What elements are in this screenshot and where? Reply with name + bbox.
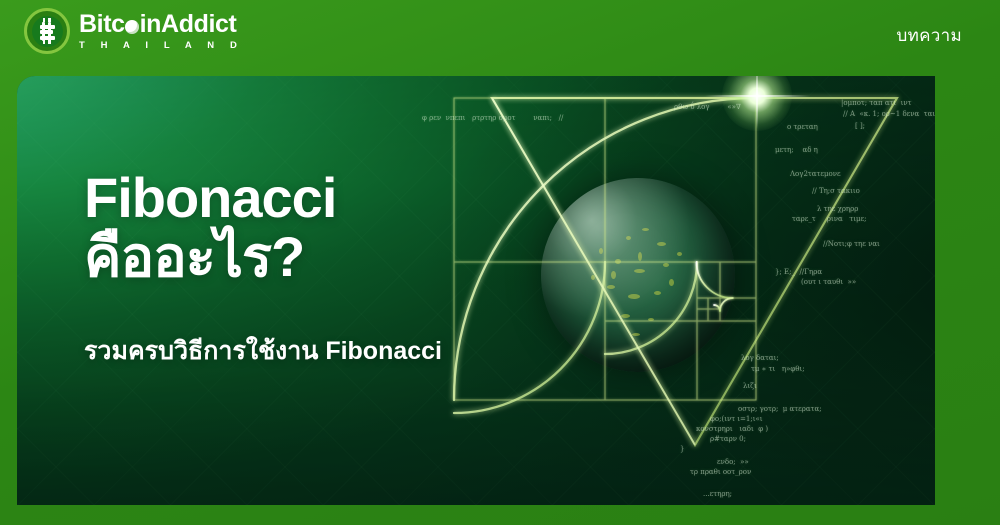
fibonacci-geometry-svg xyxy=(17,76,935,505)
bitcoin-b-glyph xyxy=(40,22,55,41)
brand-logo[interactable]: Bitc inAddict T H A I L A N D xyxy=(24,8,243,54)
brand-name-part2: inAddict xyxy=(140,12,237,37)
headline-block: Fibonacci คืออะไร? xyxy=(84,168,336,287)
headline-line-1: Fibonacci xyxy=(84,168,336,227)
category-label[interactable]: บทความ xyxy=(897,22,962,49)
brand-wordmark: Bitc inAddict T H A I L A N D xyxy=(79,12,243,51)
banner-inner-panel: ρθω ΰ λογ «»∇ φ ρεν νπεπι ρτρτηρ ομοτ να… xyxy=(17,76,935,505)
brand-name: Bitc inAddict xyxy=(79,12,243,37)
subheadline: รวมครบวิธีการใช้งาน Fibonacci xyxy=(84,331,442,371)
article-banner: ρθω ΰ λογ «»∇ φ ρεν νπεπι ρτρτηρ ομοτ να… xyxy=(0,0,1000,525)
bitcoin-coin-o-icon xyxy=(125,20,139,34)
fibonacci-artwork: ρθω ΰ λογ «»∇ φ ρεν νπεπι ρτρτηρ ομοτ να… xyxy=(17,76,935,505)
bitcoin-circle-icon xyxy=(24,8,70,54)
headline-line-2: คืออะไร? xyxy=(84,227,336,286)
brand-name-part1: Bitc xyxy=(79,12,125,37)
brand-country: T H A I L A N D xyxy=(79,41,243,51)
